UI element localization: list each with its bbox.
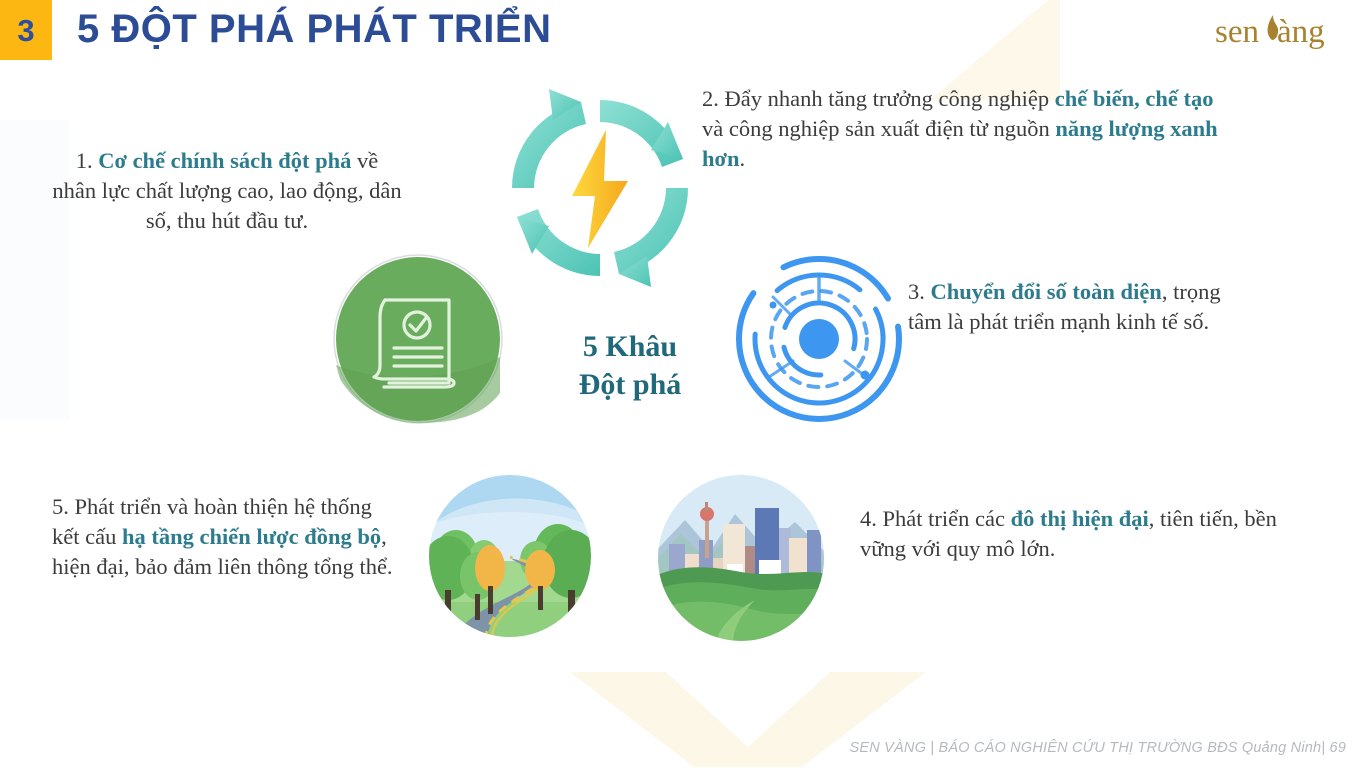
point-5-number: 5. [52,494,69,519]
slide-root: { "header": { "badge_number": "3", "titl… [0,0,1366,768]
point-1-number: 1. [76,148,93,173]
point-4-number: 4. [860,506,877,531]
point-2-text: 2. Đẩy nhanh tăng trưởng công nghiệp chế… [702,84,1222,174]
digital-transformation-icon [733,253,905,425]
point-3-text: 3. Chuyển đổi số toàn diện, trọng tâm là… [908,277,1238,337]
center-label: 5 Khâu Đột phá [540,328,720,405]
slide-footer: SEN VÀNG | BÁO CÁO NGHIÊN CỨU THỊ TRƯỜNG… [0,740,1346,756]
point-4-segment-1: đô thị hiện đại [1011,506,1149,531]
point-4-text: 4. Phát triển các đô thị hiện đại, tiên … [860,504,1310,564]
point-2-segment-2: và công nghiệp sản xuất điện từ nguồn [702,116,1055,141]
point-2-segment-0: Đẩy nhanh tăng trưởng công nghiệp [719,86,1055,111]
point-2-number: 2. [702,86,719,111]
modern-city-skyline-icon [655,472,827,644]
energy-cycle-bolt-icon [500,88,700,288]
point-3-number: 3. [908,279,925,304]
point-1-segment-0: Cơ chế chính sách đột phá [93,148,352,173]
point-1-text: 1. Cơ chế chính sách đột phá về nhân lực… [52,146,402,236]
center-label-line1: 5 Khâu [540,328,720,366]
point-4-segment-0: Phát triển các [877,506,1011,531]
section-number-badge: 3 [0,0,52,60]
point-2-segment-4: . [740,146,746,171]
point-5-segment-1: hạ tầng chiến lược đồng bộ [122,524,381,549]
section-number-text: 3 [17,15,34,46]
point-5-text: 5. Phát triển và hoàn thiện hệ thống kết… [52,492,404,582]
point-3-segment-0: Chuyển đổi số toàn diện [925,279,1162,304]
winding-road-infrastructure-icon [426,472,594,640]
center-label-line2: Đột phá [540,366,720,404]
point-2-segment-1: chế biến, chế tạo [1055,86,1214,111]
slide-header: 3 5 ĐỘT PHÁ PHÁT TRIỂN [0,0,1366,66]
page-title: 5 ĐỘT PHÁ PHÁT TRIỂN [77,7,551,52]
policy-document-check-icon [332,253,504,425]
